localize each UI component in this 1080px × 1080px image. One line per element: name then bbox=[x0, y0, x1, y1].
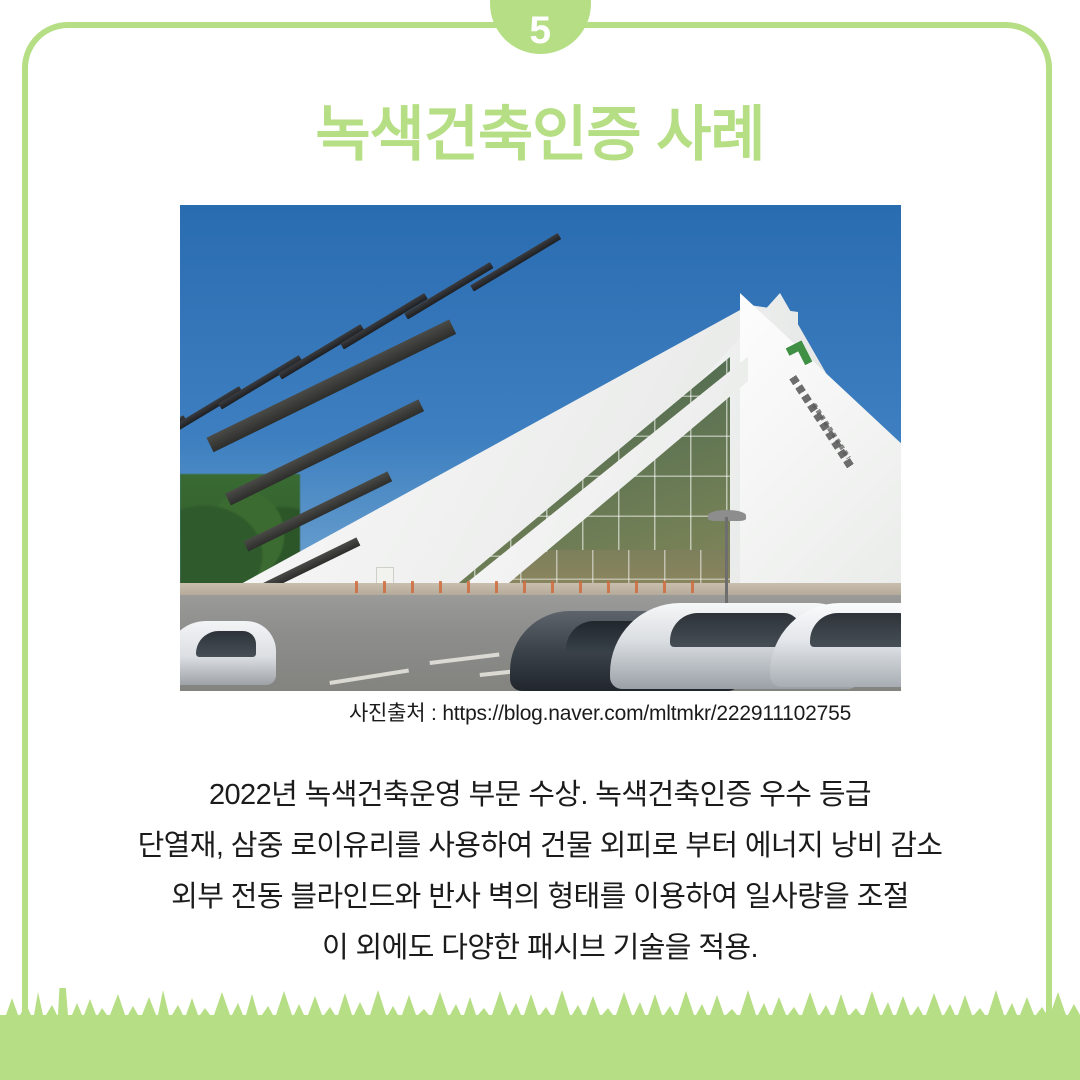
page-number-badge: 5 bbox=[490, 0, 591, 54]
body-line-1: 2022년 녹색건축운영 부문 수상. 녹색건축인증 우수 등급 bbox=[0, 770, 1080, 821]
car-windshield bbox=[196, 631, 256, 657]
bollard-row bbox=[355, 581, 710, 593]
page-title: 녹색건축인증 사례 bbox=[0, 86, 1080, 173]
parked-car bbox=[180, 621, 276, 685]
infographic-card: 5 녹색건축인증 사례 bbox=[0, 0, 1080, 1080]
body-text-block: 2022년 녹색건축운영 부문 수상. 녹색건축인증 우수 등급 단열재, 삼중… bbox=[0, 770, 1080, 974]
building-photo bbox=[180, 205, 901, 691]
grass-decoration bbox=[0, 988, 1080, 1080]
body-line-3: 외부 전동 블라인드와 반사 벽의 형태를 이용하여 일사량을 조절 bbox=[0, 872, 1080, 923]
body-line-4: 이 외에도 다양한 패시브 기술을 적용. bbox=[0, 923, 1080, 974]
car-windshield bbox=[810, 613, 901, 647]
body-line-2: 단열재, 삼중 로이유리를 사용하여 건물 외피로 부터 에너지 낭비 감소 bbox=[0, 821, 1080, 872]
page-number-label: 5 bbox=[529, 11, 551, 54]
photo-source-caption: 사진출처 : https://blog.naver.com/mltmkr/222… bbox=[0, 697, 1080, 727]
photo-illustration bbox=[180, 205, 901, 691]
